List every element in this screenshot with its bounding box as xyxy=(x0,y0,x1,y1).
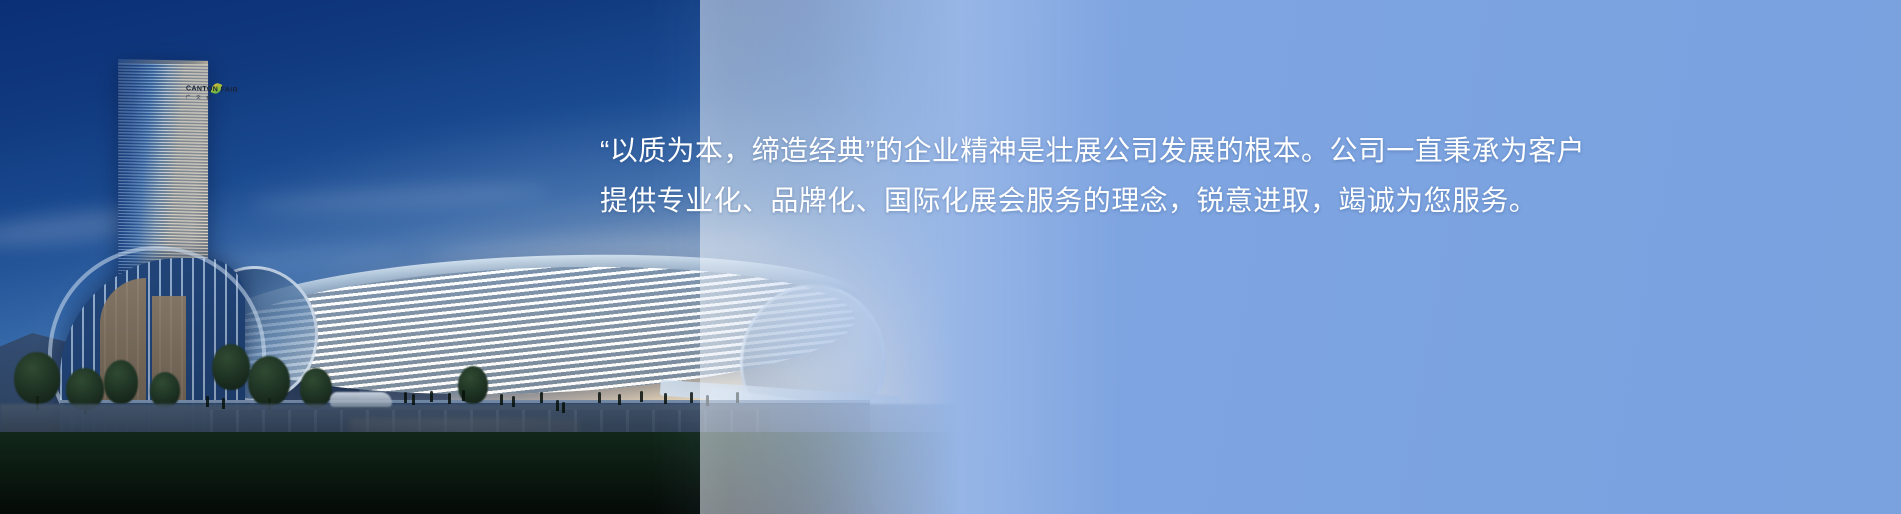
company-spirit-statement: “以质为本，缔造经典”的企业精神是壮展公司发展的根本。公司一直秉承为客户 提供专… xyxy=(600,126,1896,226)
canton-fair-complex-photo: CANTON FAIR 广 交 会 xyxy=(0,0,960,514)
statement-line-1: “以质为本，缔造经典”的企业精神是壮展公司发展的根本。公司一直秉承为客户 xyxy=(600,126,1896,176)
pedestrian xyxy=(598,392,601,403)
pedestrian xyxy=(412,394,415,405)
lawn xyxy=(0,432,960,514)
tree xyxy=(150,372,180,408)
hero-banner: CANTON FAIR 广 交 会 xyxy=(0,0,1901,514)
pedestrian xyxy=(430,391,433,402)
statement-line-2: 提供专业化、品牌化、国际化展会服务的理念，锐意进取，竭诚为您服务。 xyxy=(600,176,1896,226)
pedestrian xyxy=(512,396,515,407)
pedestrian xyxy=(462,390,465,401)
pedestrian xyxy=(222,398,225,409)
pedestrian xyxy=(500,394,503,405)
car xyxy=(330,392,392,407)
pedestrian xyxy=(448,393,451,404)
tree xyxy=(300,368,332,408)
pedestrian xyxy=(690,392,693,403)
pedestrian xyxy=(540,392,543,403)
tree xyxy=(212,344,250,390)
pedestrian xyxy=(640,391,643,402)
tower-logo-english: CANTON FAIR xyxy=(186,85,238,94)
pedestrian xyxy=(556,400,559,411)
pedestrian xyxy=(562,402,565,413)
pedestrian xyxy=(206,396,209,407)
pedestrian xyxy=(664,393,667,404)
pedestrian xyxy=(736,392,739,403)
tree xyxy=(104,360,138,404)
pedestrian xyxy=(618,394,621,405)
tower-logo: CANTON FAIR 广 交 会 xyxy=(186,85,232,101)
pedestrian xyxy=(404,392,407,403)
pedestrian xyxy=(706,395,709,406)
